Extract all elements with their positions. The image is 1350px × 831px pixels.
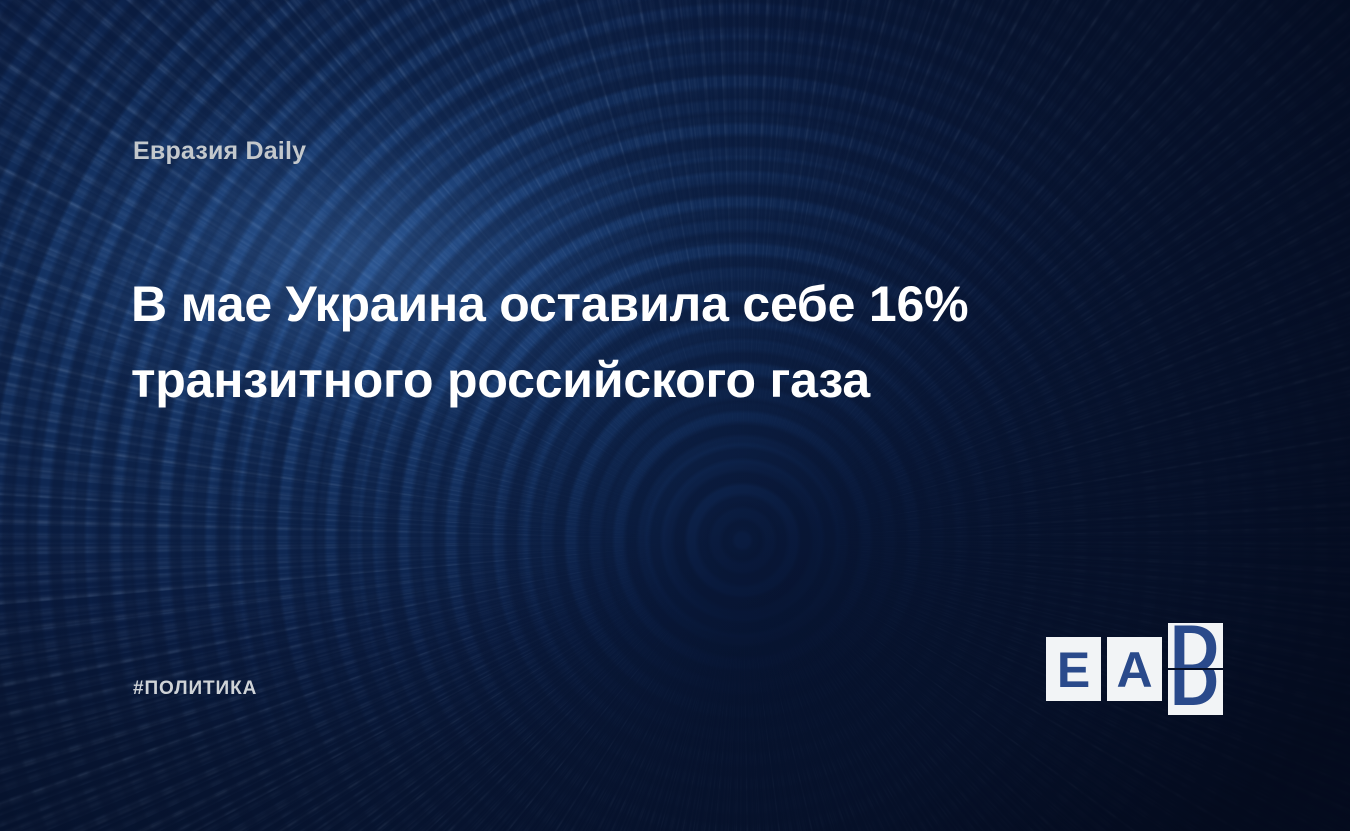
news-share-card: Евразия Daily В мае Украина оставила себ… bbox=[0, 0, 1350, 831]
logo-letter-a: A bbox=[1107, 645, 1162, 695]
brand-name: Евразия Daily bbox=[133, 137, 306, 166]
eadaily-logo[interactable]: E A D D bbox=[1046, 623, 1224, 715]
logo-tile-d-bottom: D bbox=[1168, 670, 1223, 715]
logo-letter-d-bottom: D bbox=[1168, 670, 1223, 715]
category-tag[interactable]: #ПОЛИТИКА bbox=[133, 678, 257, 700]
logo-tile-e: E bbox=[1046, 637, 1101, 701]
logo-letter-e: E bbox=[1046, 645, 1101, 695]
card-content: Евразия Daily В мае Украина оставила себ… bbox=[0, 0, 1350, 831]
logo-tile-a: A bbox=[1107, 637, 1162, 701]
logo-letter-d-top: D bbox=[1168, 623, 1223, 668]
logo-tile-d-top: D bbox=[1168, 623, 1223, 668]
headline-title: В мае Украина оставила себе 16% транзитн… bbox=[131, 266, 1091, 418]
